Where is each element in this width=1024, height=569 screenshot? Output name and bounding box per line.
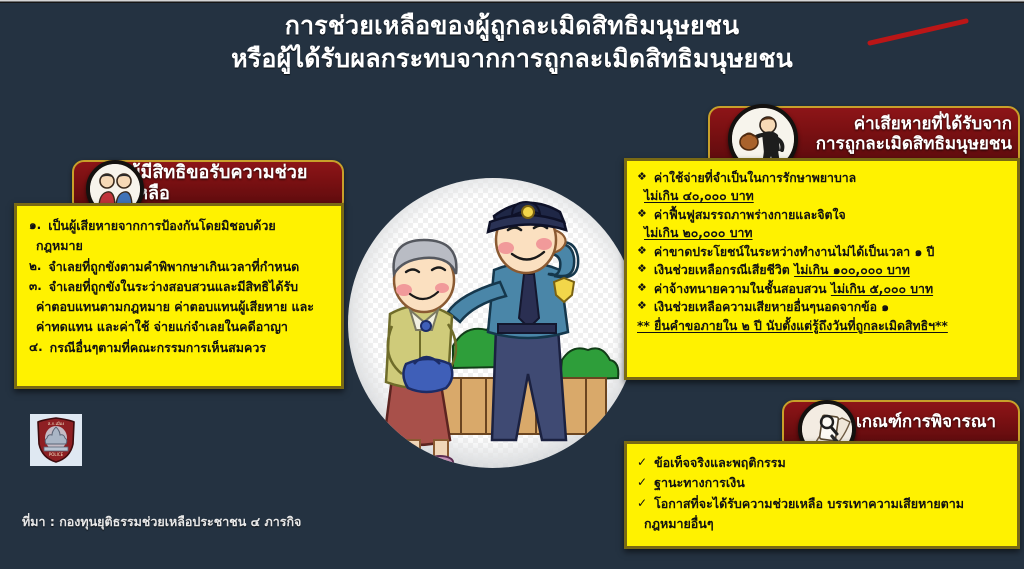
list-text: ไม่เกิน ๔๐,๐๐๐ บาท bbox=[644, 187, 1009, 205]
list-item: ไม่เกิน ๔๐,๐๐๐ บาท bbox=[637, 187, 1009, 205]
title-line-1: การช่วยเหลือของผู้ถูกละเมิดสิทธิมนุษยชน bbox=[0, 10, 1024, 43]
list-marker: ❖ bbox=[637, 243, 647, 260]
list-item: ❖ค่าใช้จ่ายที่จำเป็นในการรักษาพยาบาล bbox=[637, 169, 1009, 187]
card-damages-body: ❖ค่าใช้จ่ายที่จำเป็นในการรักษาพยาบาล ไม่… bbox=[624, 158, 1020, 380]
policeman-helping-elderly-woman-icon bbox=[348, 178, 638, 468]
svg-text:ส.ภ.เมือง: ส.ภ.เมือง bbox=[48, 421, 65, 426]
item-text: เงินช่วยเหลือกรณีเสียชีวิต bbox=[654, 263, 794, 277]
list-item: ๒.จำเลยที่ถูกขังตามคำพิพากษาเกินเวลาที่ก… bbox=[29, 257, 331, 277]
item-amount: ไม่เกิน ๑๐๐,๐๐๐ บาท bbox=[794, 263, 910, 277]
list-text: ค่าขาดประโยชน์ในระหว่างทำงานไม่ได้เป็นเว… bbox=[654, 243, 1009, 261]
list-item: ❖ค่าขาดประโยชน์ในระหว่างทำงานไม่ได้เป็นเ… bbox=[637, 243, 1009, 261]
list-item: ๔.กรณีอื่นๆตามที่คณะกรรมการเห็นสมควร bbox=[29, 338, 331, 358]
list-text: ค่าใช้จ่ายที่จำเป็นในการรักษาพยาบาล bbox=[654, 169, 1009, 187]
list-text: เป็นผู้เสียหายจากการป้องกันโดยมิชอบด้วย bbox=[48, 216, 331, 236]
check-icon: ✓ bbox=[637, 494, 647, 512]
police-shield-badge: ส.ภ.เมือง POLICE bbox=[30, 414, 82, 466]
top-edge-strip bbox=[0, 0, 1024, 3]
list-item: ❖เงินช่วยเหลือกรณีเสียชีวิต ไม่เกิน ๑๐๐,… bbox=[637, 261, 1009, 279]
check-icon: ✓ bbox=[637, 473, 647, 491]
list-text: ค่าทดแทน และค่าใช้ จ่ายแก่จำเลยในคดีอาญา bbox=[36, 317, 331, 337]
list-marker: ๑. bbox=[29, 216, 41, 234]
list-marker: ❖ bbox=[637, 169, 647, 186]
list-item: ๓.จำเลยที่ถูกขังในระว่างสอบสวนและมีสิทธิ… bbox=[29, 277, 331, 297]
list-text: ฐานะทางการเงิน bbox=[654, 473, 1007, 493]
item-amount: ไม่เกิน ๔๐,๐๐๐ บาท bbox=[644, 189, 754, 203]
list-item: ไม่เกิน ๒๐,๐๐๐ บาท bbox=[637, 224, 1009, 242]
list-text: ไม่เกิน ๒๐,๐๐๐ บาท bbox=[644, 224, 1009, 242]
card-eligible-heading: ผู้มีสิทธิขอรับความช่วยเหลือ bbox=[130, 162, 342, 204]
list-item: ❖ค่าจ้างทนายความในชั้นสอบสวน ไม่เกิน ๕,๐… bbox=[637, 280, 1009, 298]
list-text: ค่าตอบแทนตามกฎหมาย ค่าตอบแทนผู้เสียหาย แ… bbox=[36, 297, 331, 317]
list-text: กฎหมายอื่นๆ bbox=[644, 514, 1007, 534]
list-text: โอกาสที่จะได้รับความช่วยเหลือ บรรเทาความ… bbox=[654, 494, 1007, 514]
list-item: ✓ฐานะทางการเงิน bbox=[637, 473, 1007, 493]
card-damages-heading-line2: การถูกละเมิดสิทธิมนุษยชน bbox=[816, 134, 1012, 154]
item-text: เงินช่วยเหลือความเสียหายอื่นๆนอดจากข้อ ๑ bbox=[654, 300, 889, 314]
list-item: ๑.เป็นผู้เสียหายจากการป้องกันโดยมิชอบด้ว… bbox=[29, 216, 331, 236]
list-item: ค่าตอบแทนตามกฎหมาย ค่าตอบแทนผู้เสียหาย แ… bbox=[29, 297, 331, 317]
list-item: ✓ข้อเท็จจริงและพฤติกรรม bbox=[637, 453, 1007, 473]
item-text: ค่าใช้จ่ายที่จำเป็นในการรักษาพยาบาล bbox=[654, 171, 856, 185]
item-amount: ไม่เกิน ๕,๐๐๐ บาท bbox=[831, 282, 933, 296]
list-marker: ❖ bbox=[637, 206, 647, 223]
list-text: เงินช่วยเหลือความเสียหายอื่นๆนอดจากข้อ ๑ bbox=[654, 298, 1009, 316]
card-criteria-header: เกณฑ์การพิจารณา bbox=[782, 400, 1020, 444]
list-text: ค่าจ้างทนายความในชั้นสอบสวน ไม่เกิน ๕,๐๐… bbox=[654, 280, 1009, 298]
card-eligible-persons: ผู้มีสิทธิขอรับความช่วยเหลือ ๑.เป็นผู้เส… bbox=[14, 160, 344, 389]
central-illustration bbox=[348, 178, 638, 468]
title-line-2: หรือผู้ได้รับผลกระทบจากการถูกละเมิดสิทธิ… bbox=[0, 43, 1024, 76]
card-criteria: เกณฑ์การพิจารณา ✓ข้อเท็จจริงและพฤติกรรม … bbox=[624, 400, 1020, 549]
list-item: กฎหมายอื่นๆ bbox=[637, 514, 1007, 534]
card-criteria-body: ✓ข้อเท็จจริงและพฤติกรรม ✓ฐานะทางการเงิน … bbox=[624, 441, 1020, 549]
card-damages: ค่าเสียหายที่ได้รับจาก การถูกละเมิดสิทธิ… bbox=[624, 106, 1020, 380]
list-marker: ๔. bbox=[29, 338, 43, 356]
list-marker: ๒. bbox=[29, 257, 41, 275]
card-damages-footnote: ** ยื่นคำขอภายใน ๒ ปี นับตั้งแต่รู้ถึงวั… bbox=[637, 317, 1009, 335]
list-item: ❖ค่าฟื้นฟูสมรรถภาพร่างกายและจิตใจ bbox=[637, 206, 1009, 224]
list-text: จำเลยที่ถูกขังตามคำพิพากษาเกินเวลาที่กำห… bbox=[48, 257, 331, 277]
list-marker: ❖ bbox=[637, 280, 647, 297]
source-credit: ที่มา : กองทุนยุติธรรมช่วยเหลือประชาชน ๔… bbox=[22, 512, 301, 532]
item-amount: ไม่เกิน ๒๐,๐๐๐ บาท bbox=[644, 226, 753, 240]
card-damages-heading: ค่าเสียหายที่ได้รับจาก การถูกละเมิดสิทธิ… bbox=[776, 114, 1018, 154]
list-item: ❖เงินช่วยเหลือความเสียหายอื่นๆนอดจากข้อ … bbox=[637, 298, 1009, 316]
card-criteria-heading: เกณฑ์การพิจารณา bbox=[842, 412, 1018, 432]
page-title: การช่วยเหลือของผู้ถูกละเมิดสิทธิมนุษยชน … bbox=[0, 10, 1024, 75]
list-text: กฎหมาย bbox=[36, 236, 331, 256]
list-item: ✓โอกาสที่จะได้รับความช่วยเหลือ บรรเทาควา… bbox=[637, 494, 1007, 514]
item-text: ค่าจ้างทนายความในชั้นสอบสวน bbox=[654, 282, 831, 296]
list-text: ข้อเท็จจริงและพฤติกรรม bbox=[654, 453, 1007, 473]
list-marker: ๓. bbox=[29, 277, 42, 295]
card-damages-heading-line1: ค่าเสียหายที่ได้รับจาก bbox=[854, 114, 1012, 134]
list-text: กรณีอื่นๆตามที่คณะกรรมการเห็นสมควร bbox=[50, 338, 331, 358]
item-text: ค่าขาดประโยชน์ในระหว่างทำงานไม่ได้เป็นเว… bbox=[654, 245, 934, 259]
list-text: จำเลยที่ถูกขังในระว่างสอบสวนและมีสิทธิได… bbox=[49, 277, 331, 297]
list-text: เงินช่วยเหลือกรณีเสียชีวิต ไม่เกิน ๑๐๐,๐… bbox=[654, 261, 1009, 279]
item-text: ค่าฟื้นฟูสมรรถภาพร่างกายและจิตใจ bbox=[654, 208, 846, 222]
infographic-canvas: การช่วยเหลือของผู้ถูกละเมิดสิทธิมนุษยชน … bbox=[0, 0, 1024, 569]
card-eligible-header: ผู้มีสิทธิขอรับความช่วยเหลือ bbox=[72, 160, 344, 206]
list-marker: ❖ bbox=[637, 261, 647, 278]
list-marker: ❖ bbox=[637, 298, 647, 315]
list-text: ค่าฟื้นฟูสมรรถภาพร่างกายและจิตใจ bbox=[654, 206, 1009, 224]
check-icon: ✓ bbox=[637, 453, 647, 471]
list-item: กฎหมาย bbox=[29, 236, 331, 256]
svg-text:POLICE: POLICE bbox=[49, 452, 64, 457]
card-eligible-body: ๑.เป็นผู้เสียหายจากการป้องกันโดยมิชอบด้ว… bbox=[14, 203, 344, 389]
list-item: ค่าทดแทน และค่าใช้ จ่ายแก่จำเลยในคดีอาญา bbox=[29, 317, 331, 337]
card-damages-header: ค่าเสียหายที่ได้รับจาก การถูกละเมิดสิทธิ… bbox=[708, 106, 1020, 162]
